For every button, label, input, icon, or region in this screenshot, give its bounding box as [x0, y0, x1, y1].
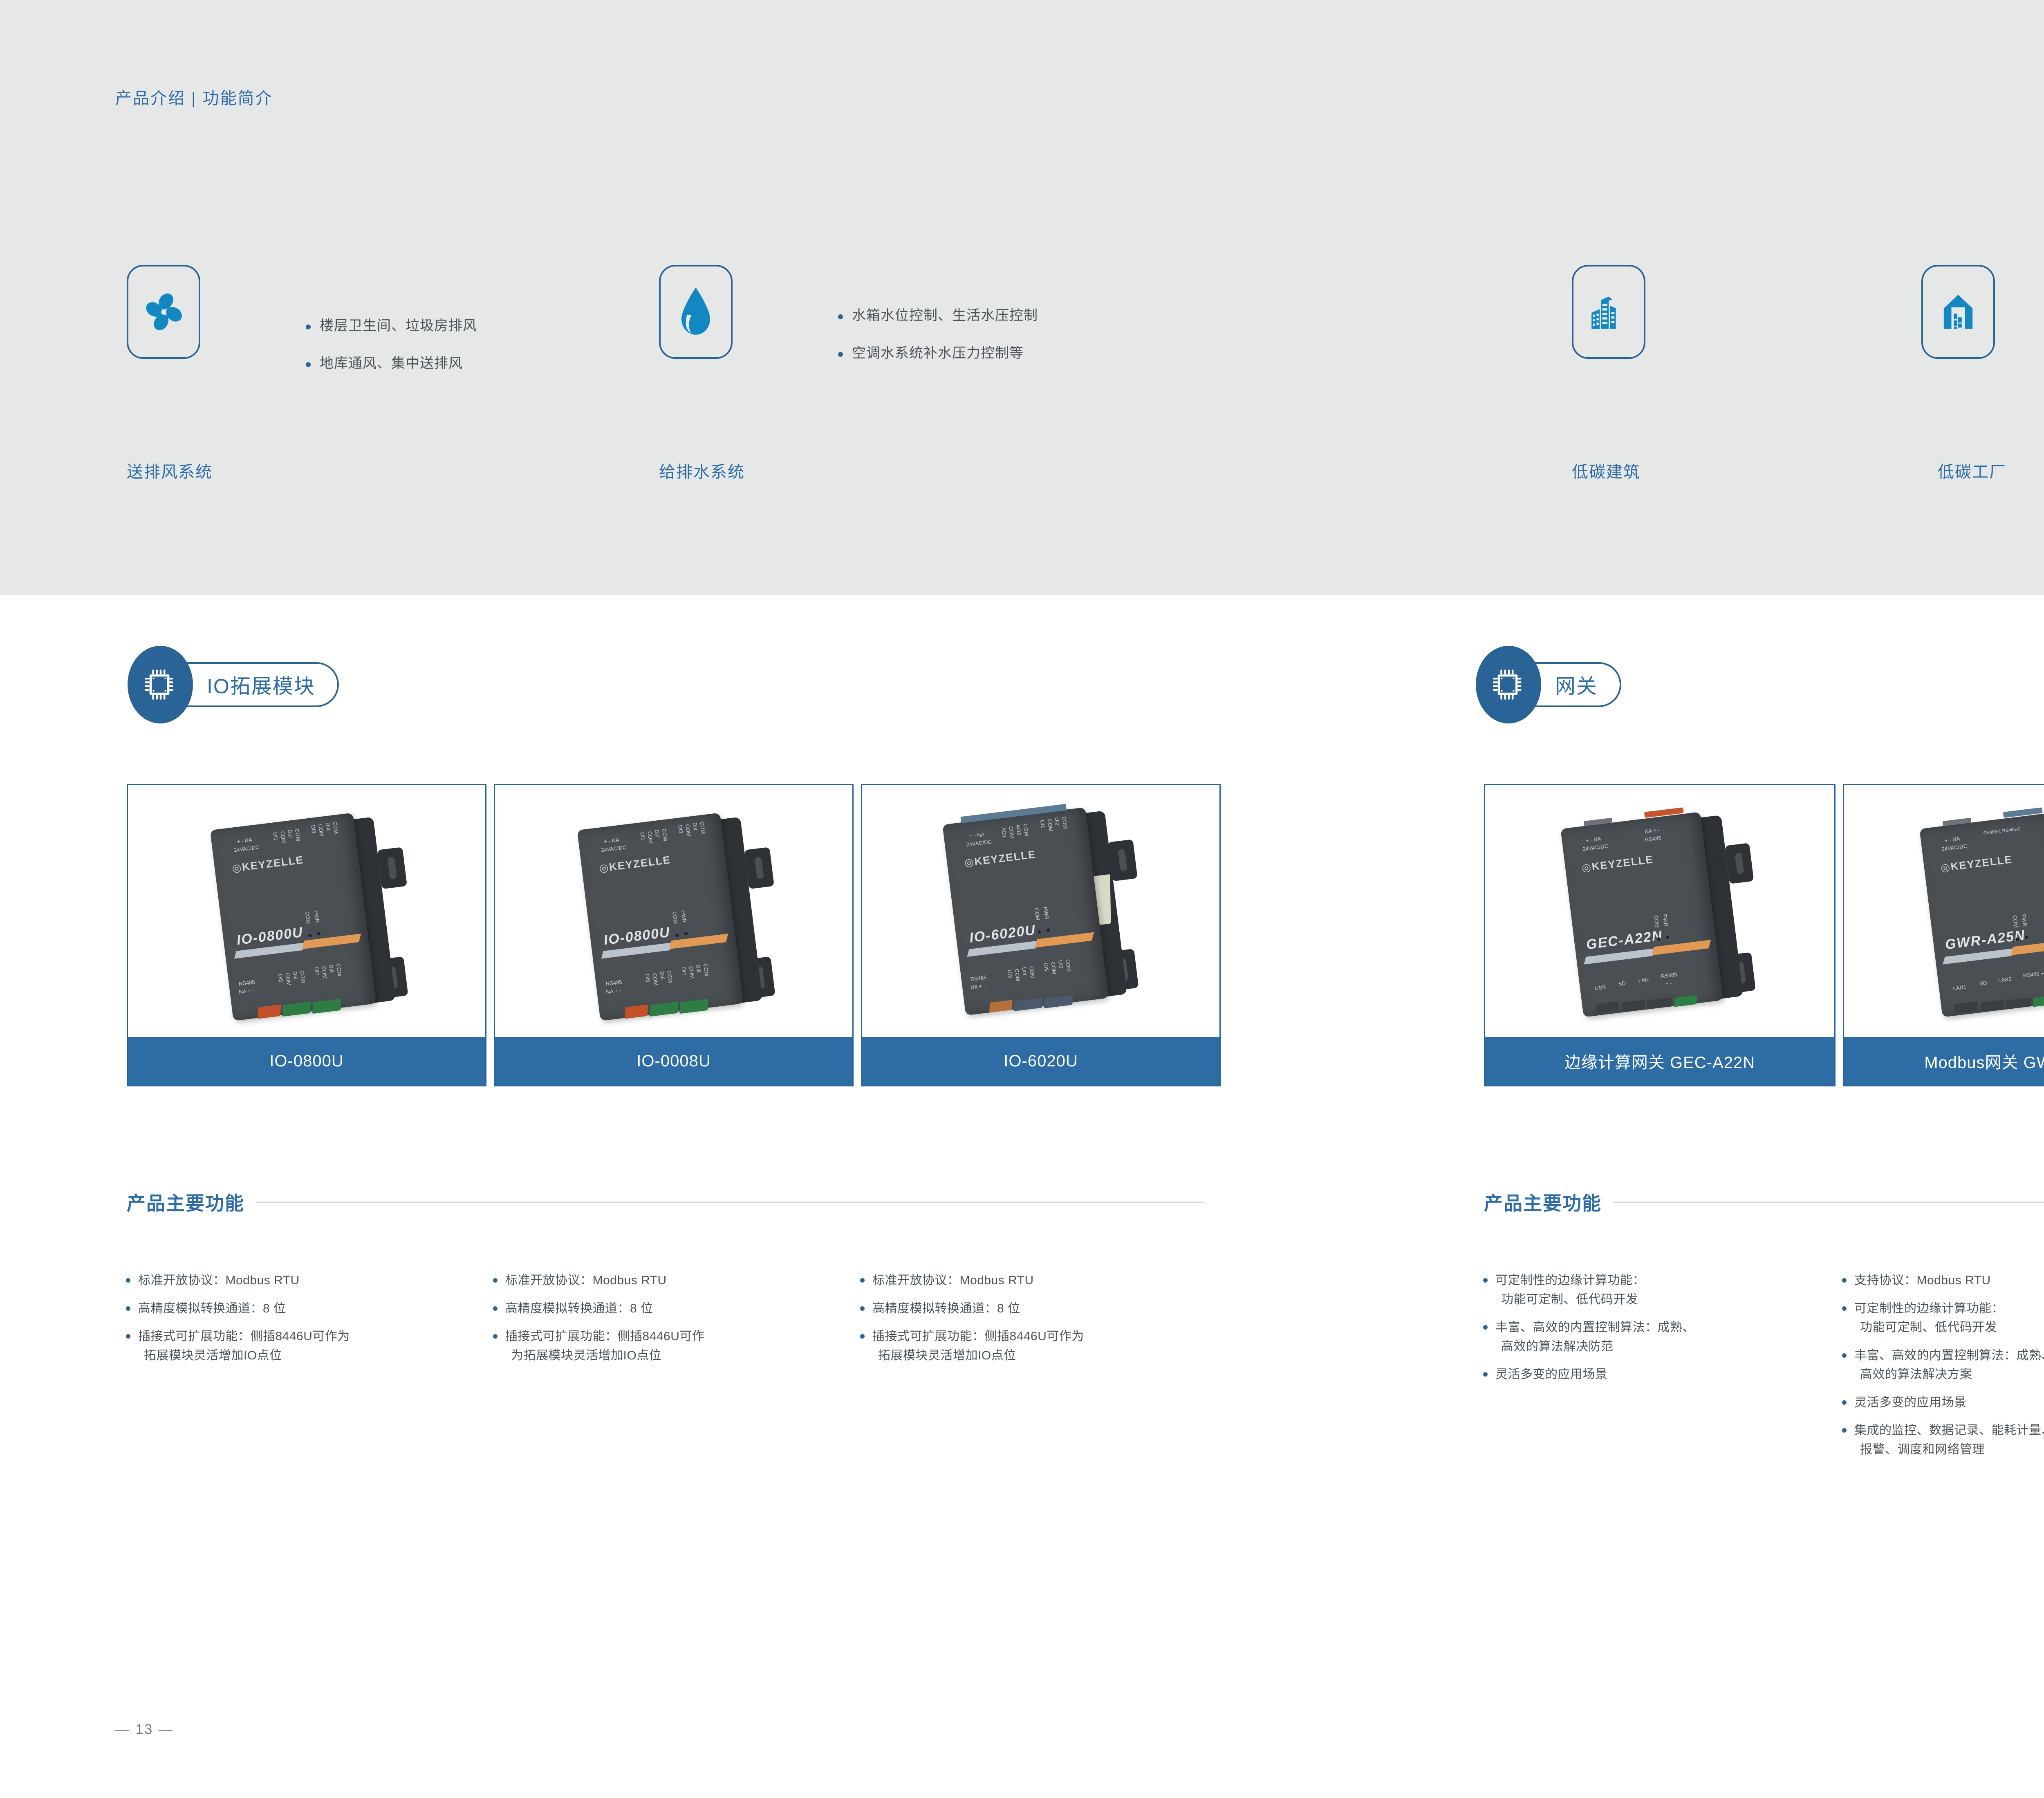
list-item: 插接式可扩展功能：侧插8446U可作 为拓展模块灵活增加IO点位 [489, 1327, 849, 1365]
feature-column: 标准开放协议：Modbus RTU 高精度模拟转换通道：8 位 插接式可扩展功能… [122, 1271, 482, 1374]
list-item: 可定制性的边缘计算功能： 功能可定制、低代码开发 [1479, 1271, 1831, 1309]
features-title: 产品主要功能 [1484, 1189, 1602, 1216]
divider [1613, 1202, 2044, 1202]
fan-icon [139, 288, 188, 336]
chip-icon [1491, 667, 1526, 702]
feature-main: 支持协议：Modbus RTU [1854, 1274, 1991, 1287]
chip-icon [143, 667, 177, 702]
list-item: 标准开放协议：Modbus RTU [489, 1271, 849, 1290]
list-item: 灵活多变的应用场景 [1838, 1393, 2044, 1413]
product-caption: 边缘计算网关 GEC-A22N [1485, 1037, 1834, 1085]
list-item: 灵活多变的应用场景 [1479, 1365, 1831, 1384]
target-tile-factory[interactable] [1921, 265, 1995, 359]
section-title-label: IO拓展模块 [207, 670, 315, 699]
office-building-icon [1586, 289, 1631, 334]
feature-sub: 拓展模块灵活增加IO点位 [872, 1346, 1216, 1366]
product-caption: IO-0800U [128, 1037, 485, 1085]
feature-main: 标准开放协议：Modbus RTU [138, 1274, 300, 1287]
list-item: 可定制性的边缘计算功能： 功能可定制、低代码开发 [1838, 1299, 2044, 1337]
header-title-left: 产品介绍 | 功能简介 [115, 85, 273, 109]
list-item: 插接式可扩展功能：侧插8446U可作为 拓展模块灵活增加IO点位 [856, 1327, 1216, 1365]
product-image: + - NA 24VAC/DC NA + - RS485 ◎KEYZELLE G… [1485, 785, 1834, 1037]
feature-sub: 为拓展模块灵活增加IO点位 [505, 1346, 849, 1366]
feature-main: 高精度模拟转换通道：8 位 [505, 1302, 653, 1315]
list-item: 空调水系统补水压力控制等 [835, 346, 1038, 360]
product-image: + - NA 24VAC/DC DI1 COM DI2 COM DI3 COM … [495, 785, 852, 1037]
product-card[interactable]: + - NA 24VAC/DC RS485-1 RS485-2 ◎KEYZELL… [1843, 784, 2044, 1086]
feature-main: 可定制性的边缘计算功能： [1495, 1274, 1645, 1287]
list-item: 高精度模拟转换通道：8 位 [856, 1299, 1216, 1319]
section-title-label: 网关 [1555, 670, 1598, 699]
section-header-io-modules[interactable]: IO拓展模块 [128, 646, 339, 723]
list-item: 丰富、高效的内置控制算法：成熟、 高效的算法解决方案 [1838, 1346, 2044, 1384]
feature-sub: 功能可定制、低代码开发 [1854, 1318, 2044, 1337]
product-caption: IO-6020U [862, 1037, 1219, 1085]
list-item: 丰富、高效的内置控制算法：成熟、 高效的算法解决防范 [1479, 1318, 1831, 1356]
feature-main: 可定制性的边缘计算功能： [1854, 1302, 2004, 1315]
water-bullets: 水箱水位控制、生活水压控制 空调水系统补水压力控制等 [835, 309, 1038, 384]
list-item: 支持协议：Modbus RTU [1838, 1271, 2044, 1290]
product-card[interactable]: + - NA 24VAC/DC DI1 COM DI2 COM DI3 COM … [127, 784, 486, 1086]
chip-badge [128, 646, 193, 723]
feature-main: 丰富、高效的内置控制算法：成熟、 [1495, 1321, 1695, 1334]
features-header-right: 产品主要功能 [1484, 1189, 2044, 1216]
ventilation-bullets: 楼层卫生间、垃圾房排风 地库通风、集中送排风 [303, 319, 477, 394]
feature-sub: 高效的算法解决方案 [1854, 1365, 2044, 1384]
product-card[interactable]: + - NA 24VAC/DC DI1 COM DI2 COM DI3 COM … [494, 784, 854, 1086]
feature-sub: 报警、调度和网络管理 [1854, 1440, 2044, 1460]
top-scenario-band [0, 0, 2044, 595]
list-item: 高精度模拟转换通道：8 位 [122, 1299, 482, 1319]
feature-column: 可定制性的边缘计算功能： 功能可定制、低代码开发 丰富、高效的内置控制算法：成熟… [1479, 1271, 1831, 1393]
features-header-left: 产品主要功能 [127, 1189, 1222, 1216]
scenario-tile-water[interactable] [659, 265, 733, 359]
product-image: + - NA 24VAC/DC AO1 COM AO2 COM UI1 COM … [862, 785, 1219, 1037]
product-caption: Modbus网关 GWR-A25N [1844, 1037, 2044, 1085]
feature-main: 高精度模拟转换通道：8 位 [872, 1302, 1020, 1315]
feature-main: 标准开放协议：Modbus RTU [872, 1274, 1034, 1287]
feature-sub: 功能可定制、低代码开发 [1495, 1290, 1831, 1310]
page-number-left: — 13 — [115, 1722, 174, 1738]
feature-column: 支持协议：Modbus RTU 可定制性的边缘计算功能： 功能可定制、低代码开发… [1838, 1271, 2044, 1468]
chip-badge [1476, 646, 1541, 723]
feature-sub: 拓展模块灵活增加IO点位 [138, 1346, 482, 1366]
list-item: 插接式可扩展功能：侧插8446U可作为 拓展模块灵活增加IO点位 [122, 1327, 482, 1365]
feature-main: 插接式可扩展功能：侧插8446U可作为 [872, 1330, 1084, 1343]
feature-sub: 高效的算法解决防范 [1495, 1337, 1831, 1357]
product-image: + - NA 24VAC/DC DI1 COM DI2 COM DI3 COM … [128, 785, 485, 1037]
product-caption: IO-0008U [495, 1037, 852, 1085]
list-item: 水箱水位控制、生活水压控制 [835, 309, 1038, 322]
feature-column: 标准开放协议：Modbus RTU 高精度模拟转换通道：8 位 插接式可扩展功能… [489, 1271, 849, 1374]
feature-main: 插接式可扩展功能：侧插8446U可作 [505, 1330, 704, 1343]
feature-main: 集成的监控、数据记录、能耗计量、 [1854, 1424, 2044, 1437]
target-tile-building-label: 低碳建筑 [1572, 459, 1641, 482]
list-item: 地库通风、集中送排风 [303, 356, 477, 370]
feature-main: 高精度模拟转换通道：8 位 [138, 1302, 286, 1315]
scenario-tile-water-label: 给排水系统 [659, 459, 745, 482]
product-card[interactable]: + - NA 24VAC/DC NA + - RS485 ◎KEYZELLE G… [1484, 784, 1836, 1086]
feature-main: 标准开放协议：Modbus RTU [505, 1274, 667, 1287]
target-tile-factory-label: 低碳工厂 [1938, 459, 2006, 482]
water-drop-icon [674, 285, 718, 338]
divider [256, 1202, 1204, 1202]
product-card[interactable]: + - NA 24VAC/DC AO1 COM AO2 COM UI1 COM … [861, 784, 1221, 1086]
feature-main: 丰富、高效的内置控制算法：成熟、 [1854, 1349, 2044, 1362]
list-item: 集成的监控、数据记录、能耗计量、 报警、调度和网络管理 [1838, 1421, 2044, 1459]
features-title: 产品主要功能 [127, 1189, 244, 1216]
list-item: 高精度模拟转换通道：8 位 [489, 1299, 849, 1319]
product-image: + - NA 24VAC/DC RS485-1 RS485-2 ◎KEYZELL… [1844, 785, 2044, 1037]
factory-icon [1936, 289, 1981, 334]
section-header-gateways[interactable]: 网关 [1476, 646, 1621, 723]
feature-main: 灵活多变的应用场景 [1854, 1396, 1967, 1409]
feature-main: 插接式可扩展功能：侧插8446U可作为 [138, 1330, 350, 1343]
list-item: 标准开放协议：Modbus RTU [856, 1271, 1216, 1290]
list-item: 标准开放协议：Modbus RTU [122, 1271, 482, 1290]
scenario-tile-ventilation-label: 送排风系统 [127, 459, 213, 482]
feature-column: 标准开放协议：Modbus RTU 高精度模拟转换通道：8 位 插接式可扩展功能… [856, 1271, 1216, 1374]
brochure-page: 产品介绍 | 功能简介 产品介绍 | 功能简介 送排风系统 楼层卫生间、垃圾房排… [0, 0, 2044, 1798]
list-item: 楼层卫生间、垃圾房排风 [303, 319, 477, 333]
target-tile-building[interactable] [1572, 265, 1645, 359]
scenario-tile-ventilation[interactable] [127, 265, 200, 359]
feature-main: 灵活多变的应用场景 [1495, 1368, 1608, 1381]
